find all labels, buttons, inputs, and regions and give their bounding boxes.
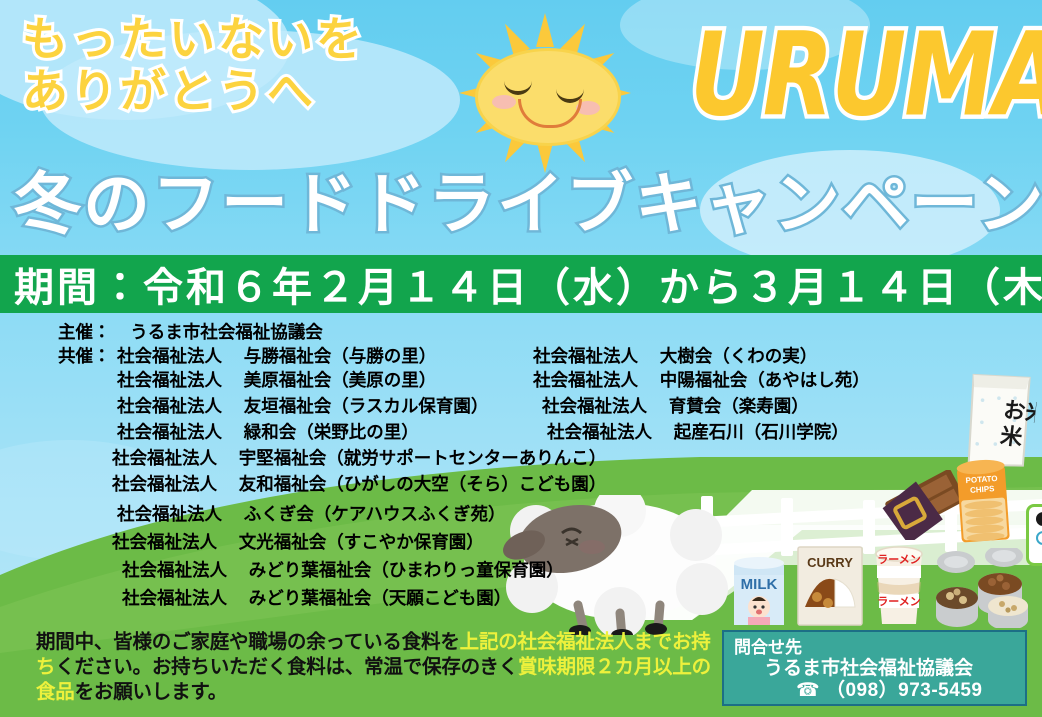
contact-phone-row: ☎ （098）973-5459 [734,680,1017,703]
org-item: 社会福祉法人 中陽福祉会（あやはし苑） [533,372,870,390]
org-name: 美原福祉会（美原の里） [244,370,437,390]
bottom-message-seg1: 期間中、皆様のご家庭や職場の余っている食料を [36,631,460,653]
period-band: 期間：令和６年２月１４日（水）から３月１４日（木） [0,255,1042,313]
milk-can-icon: MILK [730,553,788,625]
org-item: 社会福祉法人 友垣福祉会（ラスカル保育園） [117,398,488,416]
org-item: 社会福祉法人 友和福祉会（ひがしの大空（そら）こども園） [112,476,606,494]
org-item: 社会福祉法人 文光福祉会（すこやか保育園） [112,534,484,552]
org-name: 大樹会（くわの実） [660,346,818,366]
org-name: 中陽福祉会（あやはし苑） [660,370,870,390]
poster-canvas: もったいないを ありがとうへ URUMA 冬のフードドライブキャンペーン [0,0,1042,717]
corp-prefix: 社会福祉法人 [112,532,217,552]
potato-chips-can-icon: POTATO CHIPS [952,453,1014,547]
svg-text:ラーメン: ラーメン [877,595,921,608]
phone-icon: ☎ [796,680,820,701]
org-name: 友和福祉会（ひがしの大空（そら）こども園） [239,474,607,494]
corp-prefix: 社会福祉法人 [542,396,647,416]
tagline-line-2: ありがとうへ [22,66,442,118]
org-name: 緑和会（栄野比の里） [244,422,419,442]
corp-prefix: 社会福祉法人 [533,346,638,366]
cohost-label: 共催： [58,348,111,366]
org-item: 社会福祉法人 起産石川（石川学院） [547,424,849,442]
org-name: 起産石川（石川学院） [674,422,849,442]
org-name: 宇堅福祉会（就労サポートセンターありんこ） [239,448,607,468]
uruma-logo: URUMA [690,8,1042,142]
clipped-widget[interactable] [1026,504,1042,566]
tagline: もったいないを ありがとうへ [22,14,442,117]
corp-prefix: 社会福祉法人 [117,370,222,390]
org-name: 友垣福祉会（ラスカル保育園） [244,396,489,416]
widget-dot-icon [1036,512,1042,526]
bottom-message: 期間中、皆様のご家庭や職場の余っている食料を上記の社会福祉法人までお持ちください… [36,630,716,705]
host-label: 主催： [58,324,111,342]
host-name: うるま市社会福祉協議会 [130,322,323,342]
ramen-cup-icon: ラーメン ラーメン [868,542,930,627]
svg-text:CHIPS: CHIPS [970,484,996,495]
org-item: 社会福祉法人 与勝福祉会（与勝の里） [117,348,436,366]
contact-title: 問合せ先 [734,638,1017,658]
corp-prefix: 社会福祉法人 [112,474,217,494]
corp-prefix: 社会福祉法人 [547,422,652,442]
contact-organization: うるま市社会福祉協議会 [734,658,1017,681]
org-item: 社会福祉法人 ふくぎ会（ケアハウスふくぎ苑） [117,506,506,524]
corp-prefix: 社会福祉法人 [122,560,227,580]
org-name: ふくぎ会（ケアハウスふくぎ苑） [244,504,506,524]
org-name: みどり葉福祉会（ひまわりっ童保育園） [249,560,564,580]
svg-text:米: 米 [999,424,1025,452]
corp-prefix: 社会福祉法人 [112,448,217,468]
bottom-message-seg5: をお願いします。 [75,681,227,703]
corp-prefix: 社会福祉法人 [117,504,222,524]
canned-food-icon [930,548,1042,628]
period-text: 期間：令和６年２月１４日（水）から３月１４日（木） [0,255,1042,313]
sun-face [475,48,621,146]
page-title: 冬のフードドライブキャンペーン [14,150,1042,247]
corp-prefix: 社会福祉法人 [117,396,222,416]
corp-prefix: 社会福祉法人 [122,588,227,608]
corp-prefix: 社会福祉法人 [533,370,638,390]
corp-prefix: 社会福祉法人 [117,346,222,366]
org-name: 育賛会（楽寿園） [669,396,809,416]
org-item: 社会福祉法人 みどり葉福祉会（ひまわりっ童保育園） [122,562,564,580]
bottom-message-seg3: ください。お持ちいただく食料は、常温で保存のきく [55,656,518,678]
milk-can-label: MILK [741,576,778,593]
org-item: 社会福祉法人 緑和会（栄野比の里） [117,424,419,442]
org-item: 社会福祉法人 みどり葉福祉会（天願こども園） [122,590,511,608]
org-item: 社会福祉法人 美原福祉会（美原の里） [117,372,436,390]
org-item: 社会福祉法人 育賛会（楽寿園） [542,398,809,416]
tagline-line-1: もったいないを [22,14,442,66]
contact-box: 問合せ先 うるま市社会福祉協議会 ☎ （098）973-5459 [722,630,1027,706]
org-name: みどり葉福祉会（天願こども園） [249,588,512,608]
contact-phone-number: （098）973-5459 [826,680,983,701]
org-item: 社会福祉法人 宇堅福祉会（就労サポートセンターありんこ） [112,450,606,468]
sun-icon [430,18,660,168]
curry-box-icon: CURRY [795,545,865,627]
org-item: 社会福祉法人 大樹会（くわの実） [533,348,817,366]
corp-prefix: 社会福祉法人 [117,422,222,442]
curry-box-label: CURRY [807,555,853,570]
org-name: 文光福祉会（すこやか保育園） [239,532,484,552]
ramen-cup-label: ラーメン [877,553,921,566]
org-name: 与勝福祉会（与勝の里） [244,346,437,366]
widget-dot-icon [1036,531,1042,545]
